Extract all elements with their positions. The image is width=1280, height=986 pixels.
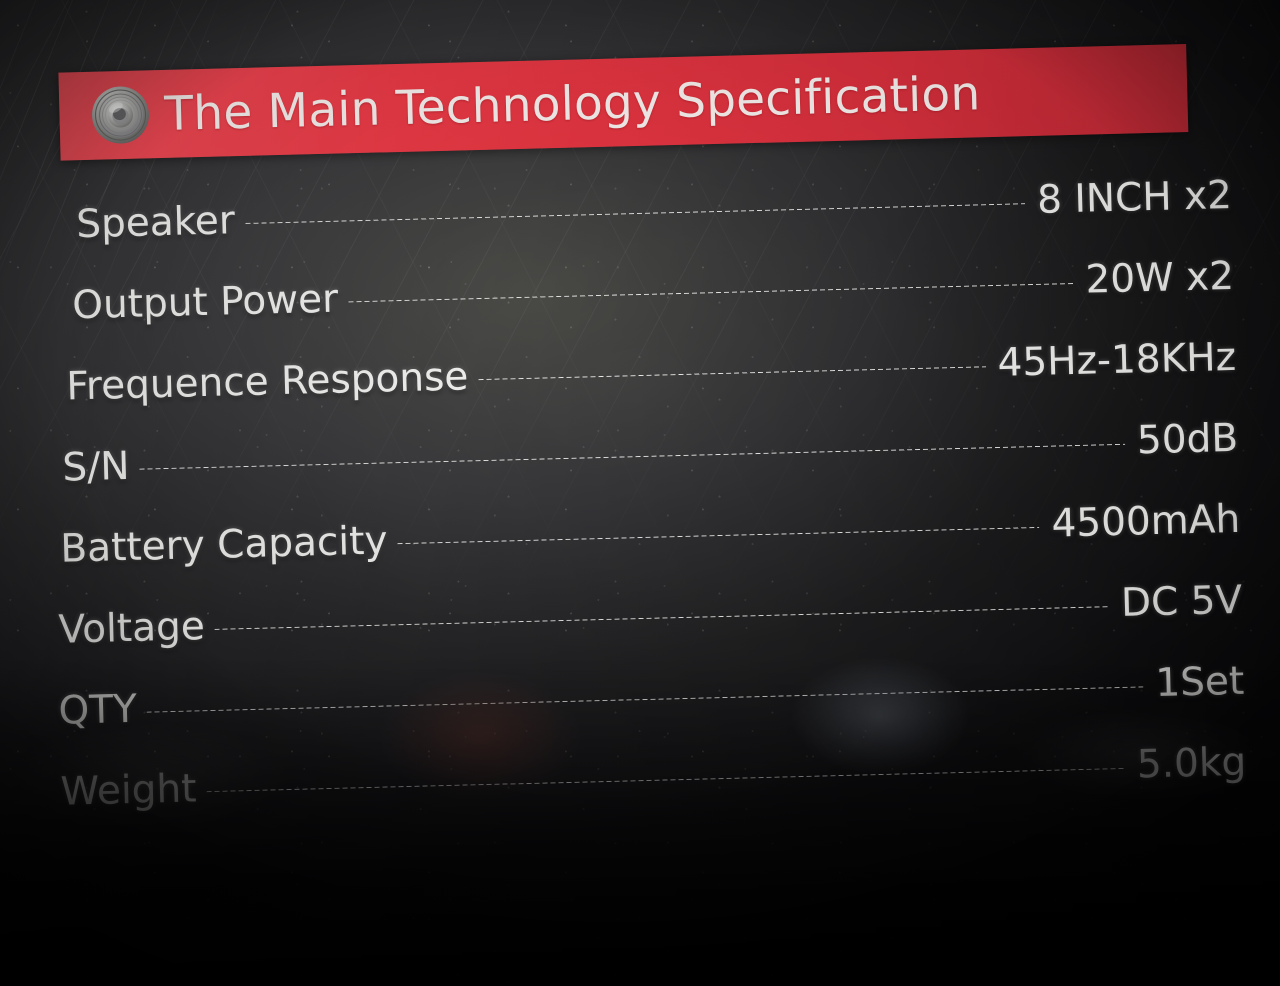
spec-label-photo: The Main Technology Specification Speake… (0, 0, 1280, 986)
photo-vignette (0, 0, 1280, 986)
